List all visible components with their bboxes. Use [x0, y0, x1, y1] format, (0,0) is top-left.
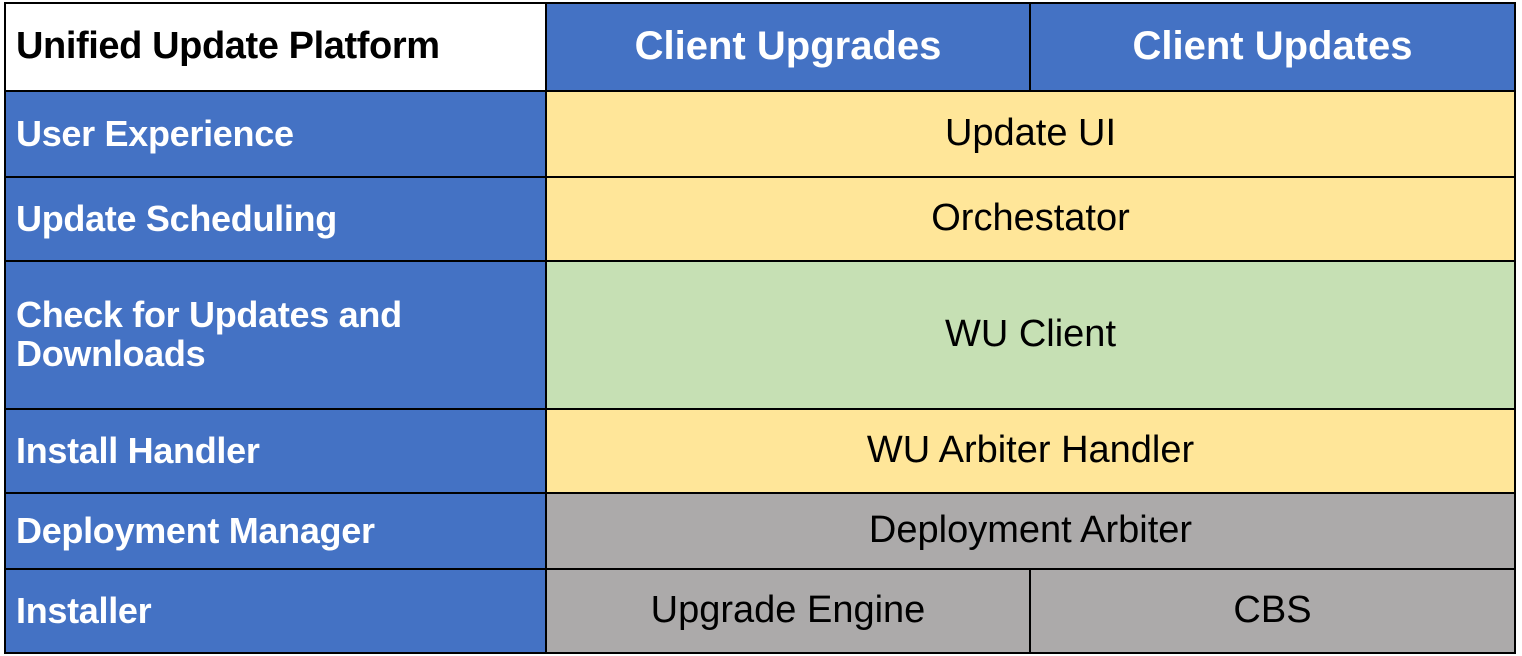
unified-update-platform-table: Unified Update Platform Client Upgrades …	[4, 2, 1516, 654]
cell-wu-arbiter-handler: WU Arbiter Handler	[546, 409, 1515, 493]
cell-deployment-arbiter: Deployment Arbiter	[546, 493, 1515, 569]
cell-upgrade-engine: Upgrade Engine	[546, 569, 1030, 653]
row-label-check-for-updates-and-downloads: Check for Updates and Downloads	[5, 261, 546, 409]
column-header-client-upgrades: Client Upgrades	[546, 3, 1030, 91]
table-row: Install Handler WU Arbiter Handler	[5, 409, 1515, 493]
slide-canvas: Unified Update Platform Client Upgrades …	[0, 0, 1522, 656]
row-label-update-scheduling: Update Scheduling	[5, 177, 546, 261]
cell-cbs: CBS	[1030, 569, 1515, 653]
table-title-cell: Unified Update Platform	[5, 3, 546, 91]
table-row: User Experience Update UI	[5, 91, 1515, 177]
table-header-row: Unified Update Platform Client Upgrades …	[5, 3, 1515, 91]
row-label-install-handler: Install Handler	[5, 409, 546, 493]
row-label-user-experience: User Experience	[5, 91, 546, 177]
row-label-deployment-manager: Deployment Manager	[5, 493, 546, 569]
table-row: Installer Upgrade Engine CBS	[5, 569, 1515, 653]
column-header-client-updates: Client Updates	[1030, 3, 1515, 91]
cell-update-ui: Update UI	[546, 91, 1515, 177]
cell-wu-client: WU Client	[546, 261, 1515, 409]
cell-orchestator: Orchestator	[546, 177, 1515, 261]
table-row: Deployment Manager Deployment Arbiter	[5, 493, 1515, 569]
row-label-installer: Installer	[5, 569, 546, 653]
table-row: Check for Updates and Downloads WU Clien…	[5, 261, 1515, 409]
table-row: Update Scheduling Orchestator	[5, 177, 1515, 261]
